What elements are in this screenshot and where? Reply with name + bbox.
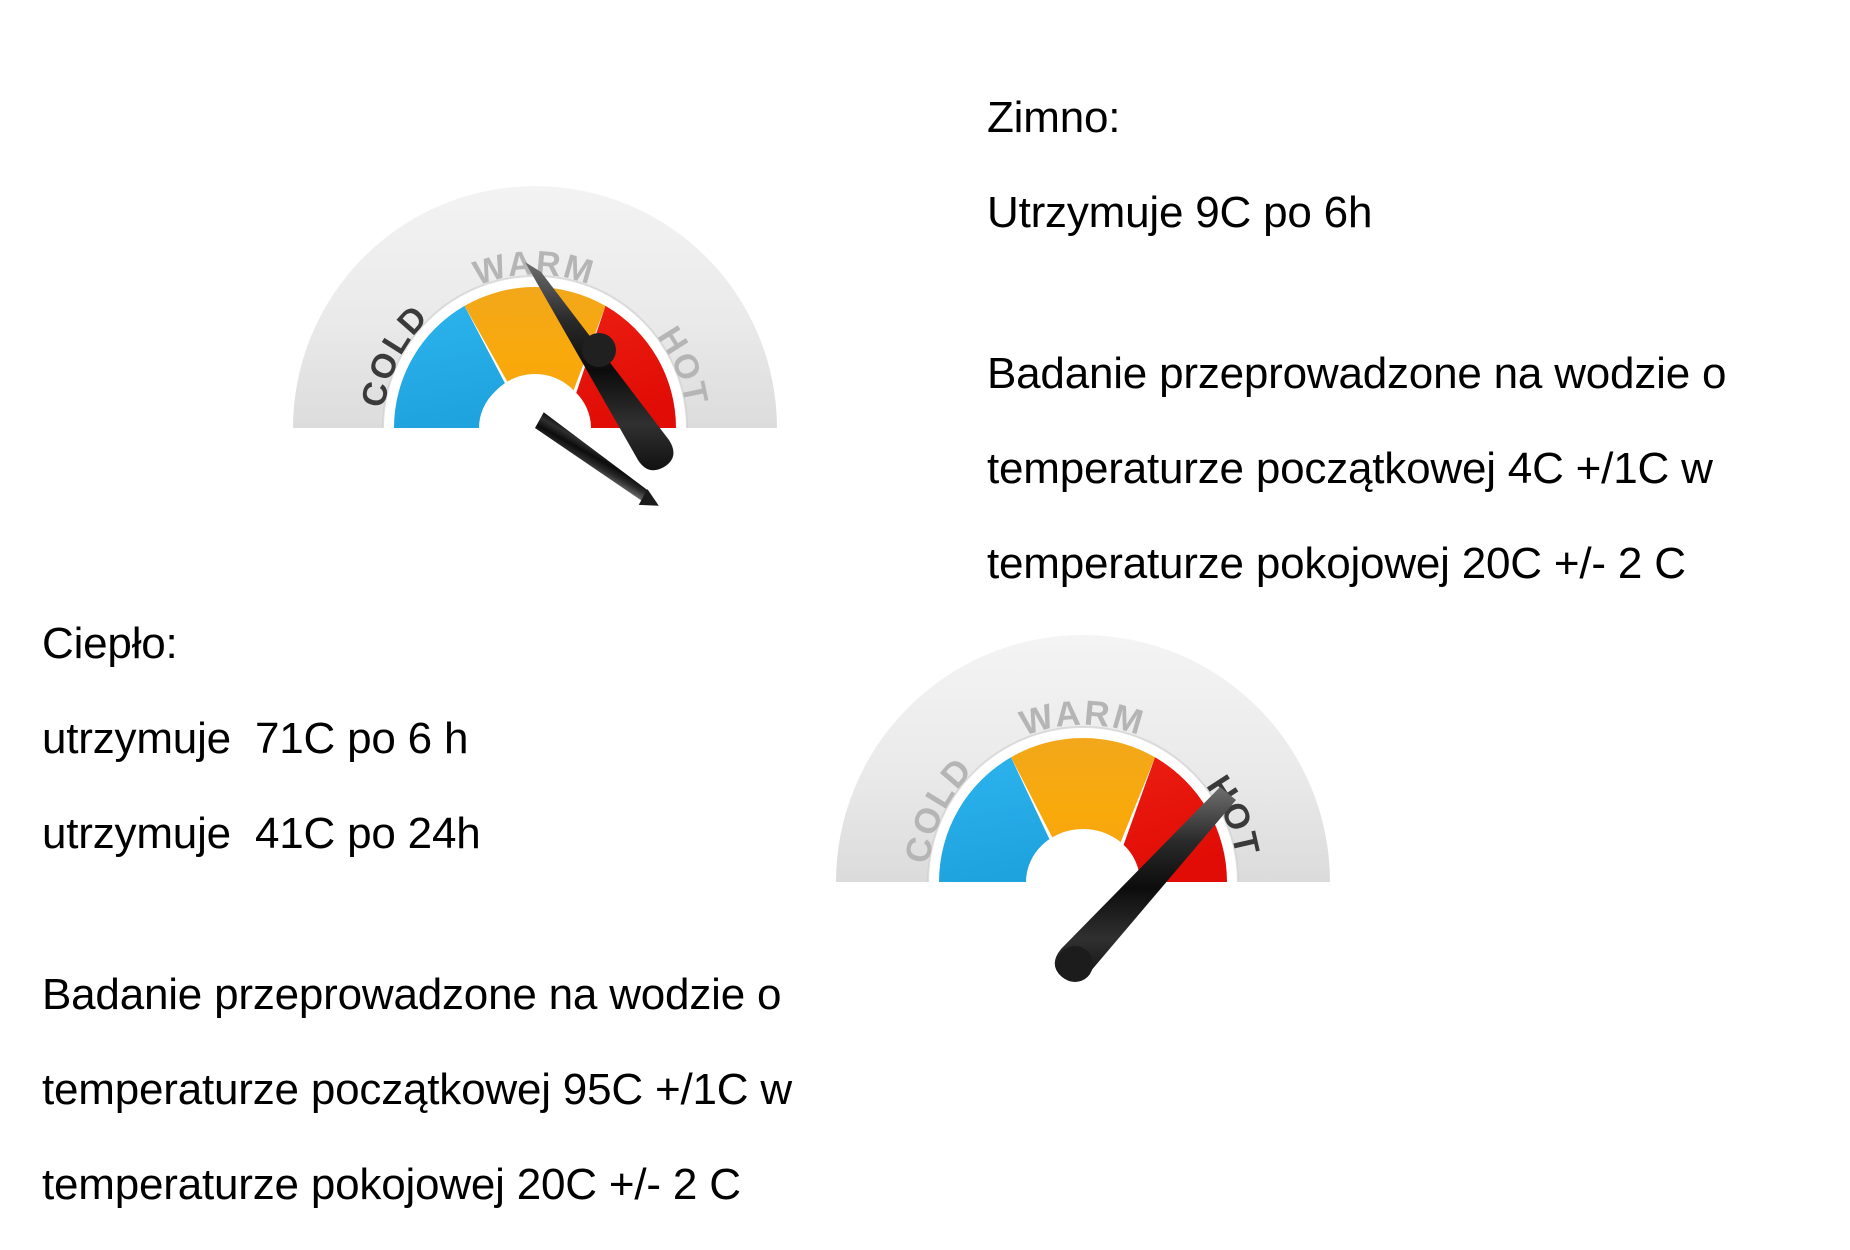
cold-heading: Zimno:	[987, 88, 1847, 147]
cold-note-line-1: Badanie przeprowadzone na wodzie o	[987, 344, 1847, 403]
cold-note-line-2: temperaturze początkowej 4C +/1C w	[987, 439, 1847, 498]
spacer	[42, 899, 862, 929]
warm-note-line-2: temperaturze początkowej 95C +/1C w	[42, 1060, 862, 1119]
spacer	[987, 278, 1847, 308]
warm-heading: Ciepło:	[42, 614, 862, 673]
cold-text-panel: Zimno: Utrzymuje 9C po 6h Badanie przepr…	[987, 52, 1847, 629]
warm-note-line-1: Badanie przeprowadzone na wodzie o	[42, 965, 862, 1024]
warm-note-line-3: temperaturze pokojowej 20C +/- 2 C	[42, 1155, 862, 1214]
cold-gauge: COLD WARM HOT	[255, 128, 815, 478]
cold-note-line-3: temperaturze pokojowej 20C +/- 2 C	[987, 534, 1847, 593]
cold-retention: Utrzymuje 9C po 6h	[987, 183, 1847, 242]
warm-text-panel: Ciepło: utrzymuje 71C po 6 h utrzymuje 4…	[42, 578, 862, 1250]
page-canvas: COLD WARM HOT	[0, 0, 1850, 1217]
warm-retention-line-2: utrzymuje 41C po 24h	[42, 804, 862, 863]
warm-retention-line-1: utrzymuje 71C po 6 h	[42, 709, 862, 768]
